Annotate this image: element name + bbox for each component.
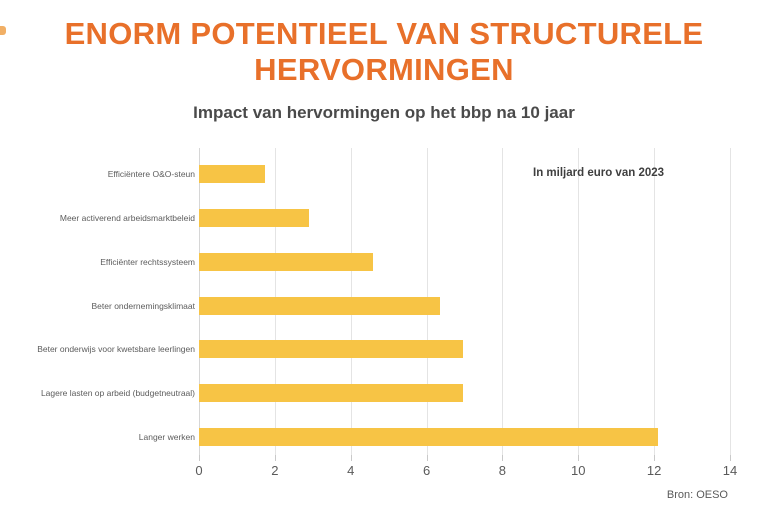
bar [199, 384, 463, 402]
x-tick-label: 0 [179, 463, 219, 478]
x-tick-0 [199, 455, 200, 461]
plot-area: 02468101214 [199, 148, 730, 455]
category-label: Meer activerend arbeidsmarktbeleid [3, 213, 195, 223]
bar [199, 253, 373, 271]
x-tick-4 [351, 455, 352, 461]
category-label: Beter ondernemingsklimaat [3, 301, 195, 311]
category-label: Lagere lasten op arbeid (budgetneutraal) [3, 388, 195, 398]
x-tick-8 [502, 455, 503, 461]
category-label: Langer werken [3, 432, 195, 442]
x-tick-14 [730, 455, 731, 461]
category-label: Efficiënter rechtssysteem [3, 257, 195, 267]
x-tick-label: 12 [634, 463, 674, 478]
category-label: Efficiëntere O&O-steun [3, 169, 195, 179]
x-tick-label: 6 [407, 463, 447, 478]
x-tick-6 [427, 455, 428, 461]
category-label: Beter onderwijs voor kwetsbare leerlinge… [3, 344, 195, 354]
unit-annotation: In miljard euro van 2023 [533, 167, 664, 179]
x-tick-label: 2 [255, 463, 295, 478]
x-tick-12 [654, 455, 655, 461]
chart-subtitle: Impact van hervormingen op het bbp na 10… [0, 103, 768, 123]
gridline-12 [654, 148, 655, 455]
gridline-14 [730, 148, 731, 455]
bar [199, 165, 265, 183]
bar [199, 428, 658, 446]
x-tick-label: 14 [710, 463, 750, 478]
gridline-8 [502, 148, 503, 455]
x-tick-label: 4 [331, 463, 371, 478]
bar [199, 340, 463, 358]
gridline-10 [578, 148, 579, 455]
bar [199, 209, 309, 227]
x-tick-2 [275, 455, 276, 461]
x-tick-10 [578, 455, 579, 461]
x-tick-label: 8 [482, 463, 522, 478]
x-tick-label: 10 [558, 463, 598, 478]
page-title: ENORM POTENTIEEL VAN STRUCTURELE HERVORM… [0, 16, 768, 88]
bar-chart: Efficiëntere O&O-steunMeer activerend ar… [0, 140, 768, 485]
source-note: Bron: OESO [667, 489, 728, 501]
category-axis-labels: Efficiëntere O&O-steunMeer activerend ar… [0, 148, 195, 455]
bar [199, 297, 440, 315]
